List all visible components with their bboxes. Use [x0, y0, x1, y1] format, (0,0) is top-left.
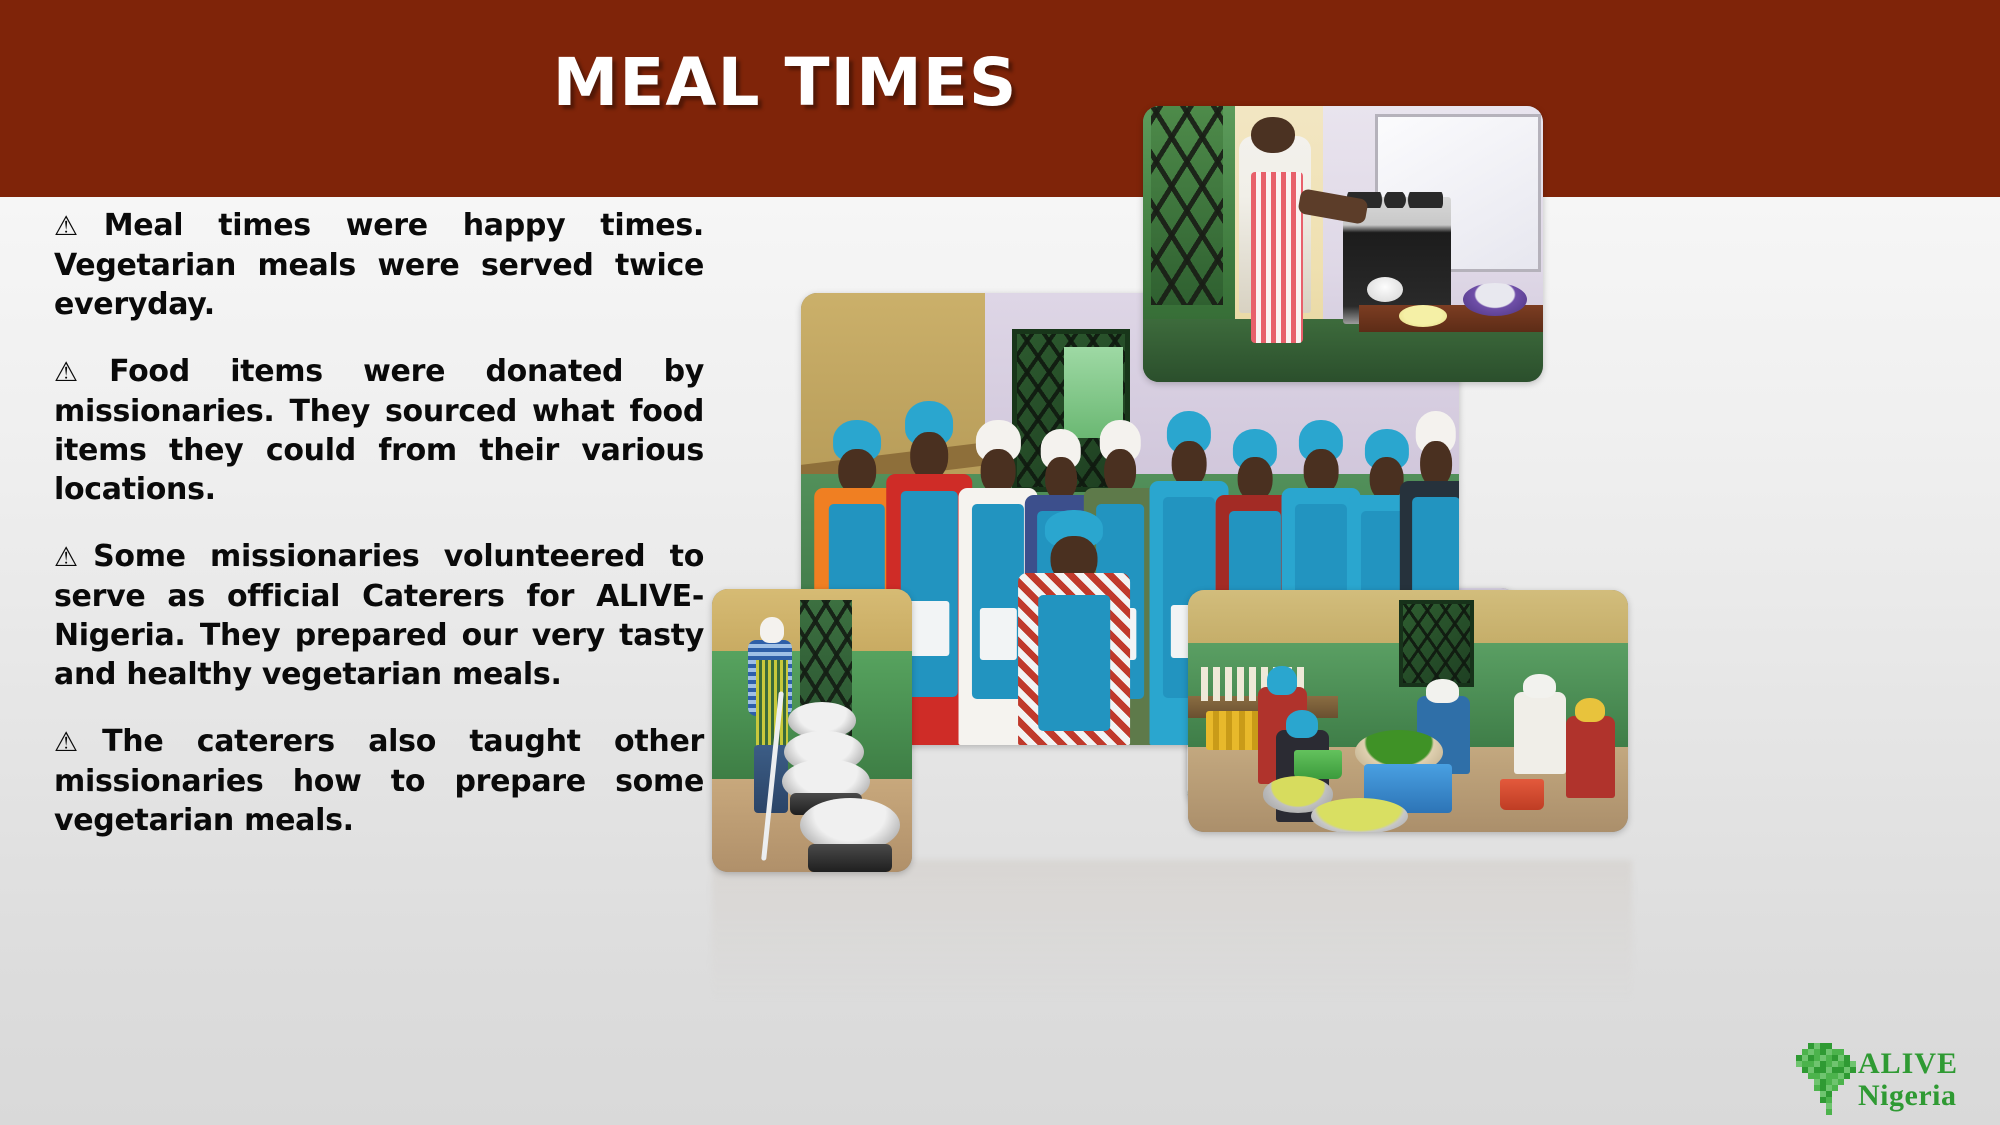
prep-person [1566, 716, 1614, 798]
kitchen-prep-scene [1188, 590, 1628, 832]
metal-basin-2 [1311, 798, 1408, 832]
kneeling-man [1018, 510, 1130, 745]
window-bars [1403, 604, 1470, 683]
bullet-list: ⚠Meal times were happy times. Vegetarian… [54, 206, 704, 840]
head-wrap [1286, 710, 1319, 738]
warning-triangle-bullet-icon: ⚠ [54, 357, 108, 388]
yellow-plate [1399, 305, 1447, 327]
bullet-item-1: ⚠Meal times were happy times. Vegetarian… [54, 206, 704, 324]
cook-head [1251, 117, 1295, 153]
apron-bib [972, 504, 1024, 699]
nigeria-pixel-map-icon [1796, 1043, 1854, 1117]
cook-striped-apron [1251, 172, 1303, 343]
purple-bowl [1463, 283, 1527, 316]
green-bucket [1294, 750, 1342, 779]
bullet-item-2: ⚠Food items were donated by missionaries… [54, 352, 704, 509]
apron-pocket [980, 608, 1016, 660]
bullet-item-3: ⚠Some missionaries volunteered to serve … [54, 537, 704, 694]
bullet-item-4: ⚠The caterers also taught other missiona… [54, 722, 704, 840]
slide-meal-times: MEAL TIMES [0, 0, 2000, 1125]
yellow-jerrycans [1206, 711, 1263, 750]
cook-apron [756, 660, 788, 753]
head-wrap [1575, 698, 1605, 723]
bullet-text-1: Meal times were happy times. Vegetarian … [54, 208, 704, 322]
bullet-text-4: The caterers also taught other missionar… [54, 724, 704, 838]
bullet-text-3: Some missionaries volunteered to serve a… [54, 539, 704, 692]
page-title: MEAL TIMES [0, 44, 1570, 121]
window-grill [1151, 106, 1223, 305]
photo-kitchen-prep-team [1188, 590, 1628, 832]
white-pot [1367, 277, 1403, 302]
pots-scene [712, 589, 912, 872]
red-bucket [1500, 779, 1544, 810]
pot-stand-2 [808, 844, 892, 872]
alive-nigeria-logo: ALIVE Nigeria [1796, 1041, 1992, 1119]
warning-triangle-bullet-icon: ⚠ [54, 727, 101, 758]
prep-person [1514, 692, 1567, 774]
logo-wordmark: ALIVE Nigeria [1858, 1049, 1958, 1111]
bullet-text-2: Food items were donated by missionaries.… [54, 354, 704, 507]
apron-pocket [910, 601, 949, 656]
cook-head-wrap [760, 617, 784, 642]
head-wrap [1426, 679, 1459, 702]
photo-cook-at-gas-stove [1143, 106, 1543, 382]
logo-line-alive: ALIVE [1858, 1049, 1958, 1079]
warning-triangle-bullet-icon: ⚠ [54, 542, 92, 573]
warning-triangle-bullet-icon: ⚠ [54, 211, 103, 242]
head-wrap [1267, 666, 1297, 695]
collage-reflection [712, 860, 1632, 1000]
apron-bib [1038, 595, 1110, 731]
barred-window [1399, 600, 1474, 687]
logo-line-nigeria: Nigeria [1858, 1081, 1958, 1111]
photo-cooking-pots [712, 589, 912, 872]
head-wrap [1523, 674, 1556, 699]
stove-scene [1143, 106, 1543, 382]
